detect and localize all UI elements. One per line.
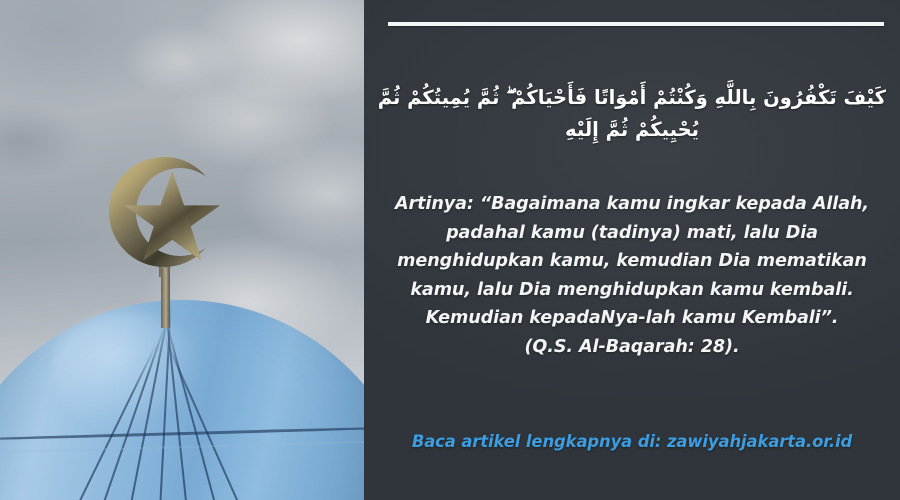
translation-line-2: padahal kamu (tadinya) mati, lalu Dia (376, 219, 888, 248)
translation-line-1: Artinya: “Bagaimana kamu ingkar kepada A… (376, 190, 888, 219)
mosque-dome-photo (0, 0, 364, 500)
quote-text-panel: كَيْفَ تَكْفُرُونَ بِاللَّهِ وَكُنْتُمْ … (364, 0, 900, 500)
translation-line-5: Kemudian kepadaNya-lah kamu Kembali”. (376, 304, 888, 333)
mosque-dome (0, 300, 364, 500)
arabic-verse-line-2: يُحْيِيكُمْ ثُمَّ إِلَيْهِ (378, 114, 886, 146)
translation-line-4: kamu, lalu Dia menghidupkan kamu kembali… (376, 276, 888, 305)
dome-horizontal-seam (0, 425, 364, 442)
translation-line-3: menghidupkan kamu, kemudian Dia mematika… (376, 247, 888, 276)
arabic-verse: كَيْفَ تَكْفُرُونَ بِاللَّهِ وَكُنْتُمْ … (378, 82, 886, 145)
indonesian-translation: Artinya: “Bagaimana kamu ingkar kepada A… (376, 190, 888, 362)
arabic-verse-line-1: كَيْفَ تَكْفُرُونَ بِاللَّهِ وَكُنْتُمْ … (378, 82, 886, 114)
quote-graphic-canvas: كَيْفَ تَكْفُرُونَ بِاللَّهِ وَكُنْتُمْ … (0, 0, 900, 500)
article-cta-link[interactable]: Baca artikel lengkapnya di: zawiyahjakar… (376, 432, 888, 451)
top-divider-rule (388, 22, 884, 26)
verse-reference: (Q.S. Al-Baqarah: 28). (376, 333, 888, 362)
crescent-star-icon (104, 146, 236, 278)
crescent-star-finial (104, 146, 236, 278)
dome-surface (0, 300, 364, 500)
